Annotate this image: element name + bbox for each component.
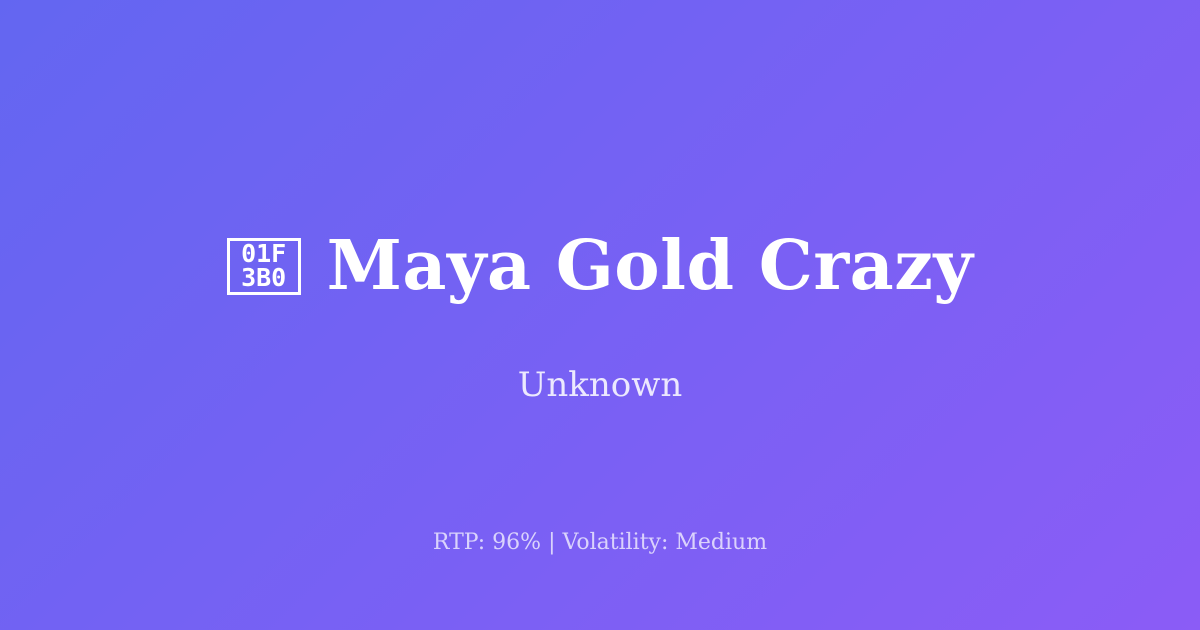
game-preview-card: 01F 3B0 Maya Gold Crazy Unknown RTP: 96%… [0, 0, 1200, 630]
game-stats-line: RTP: 96% | Volatility: Medium [0, 528, 1200, 558]
slot-machine-emoji-icon: 01F 3B0 [227, 238, 301, 295]
codepoint-bottom: 3B0 [241, 266, 286, 290]
page-title: Maya Gold Crazy [327, 232, 974, 300]
title-row: 01F 3B0 Maya Gold Crazy [0, 232, 1200, 300]
provider-subtitle: Unknown [0, 363, 1200, 407]
